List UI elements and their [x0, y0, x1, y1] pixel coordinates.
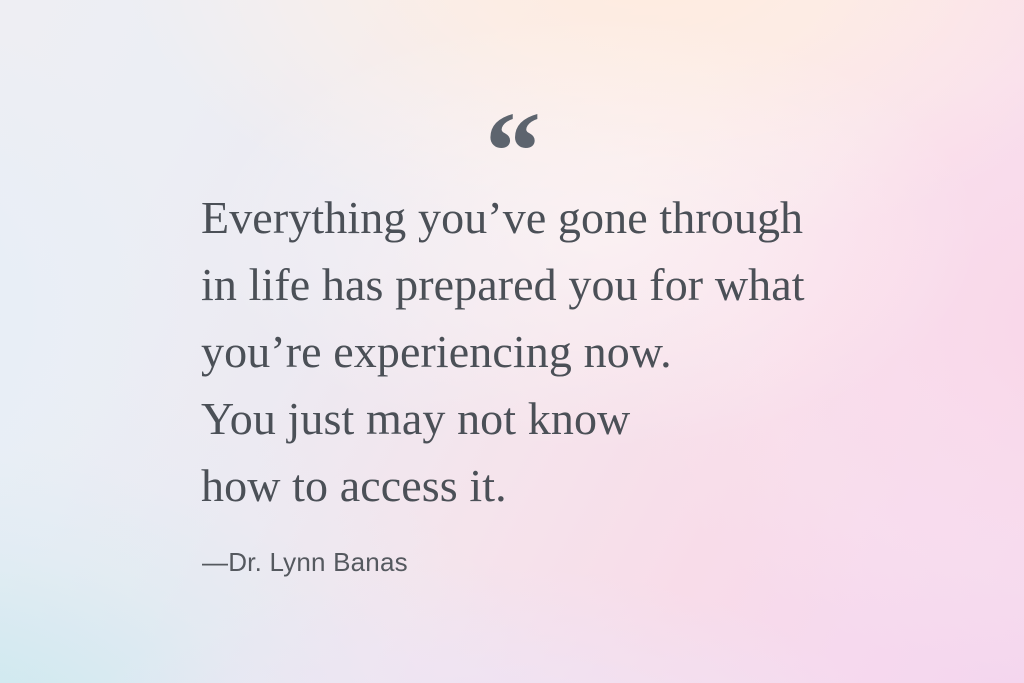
quote-line: Everything you’ve gone through	[201, 184, 961, 251]
quote-text-block: Everything you’ve gone through in life h…	[201, 184, 961, 519]
quote-content: “ Everything you’ve gone through in life…	[0, 0, 1024, 683]
quote-line: you’re experiencing now.	[201, 318, 961, 385]
quote-line: how to access it.	[201, 452, 961, 519]
quote-attribution: —Dr. Lynn Banas	[202, 545, 408, 579]
quote-line: in life has prepared you for what	[201, 251, 961, 318]
quote-card: “ Everything you’ve gone through in life…	[0, 0, 1024, 683]
quote-line: You just may not know	[201, 385, 961, 452]
